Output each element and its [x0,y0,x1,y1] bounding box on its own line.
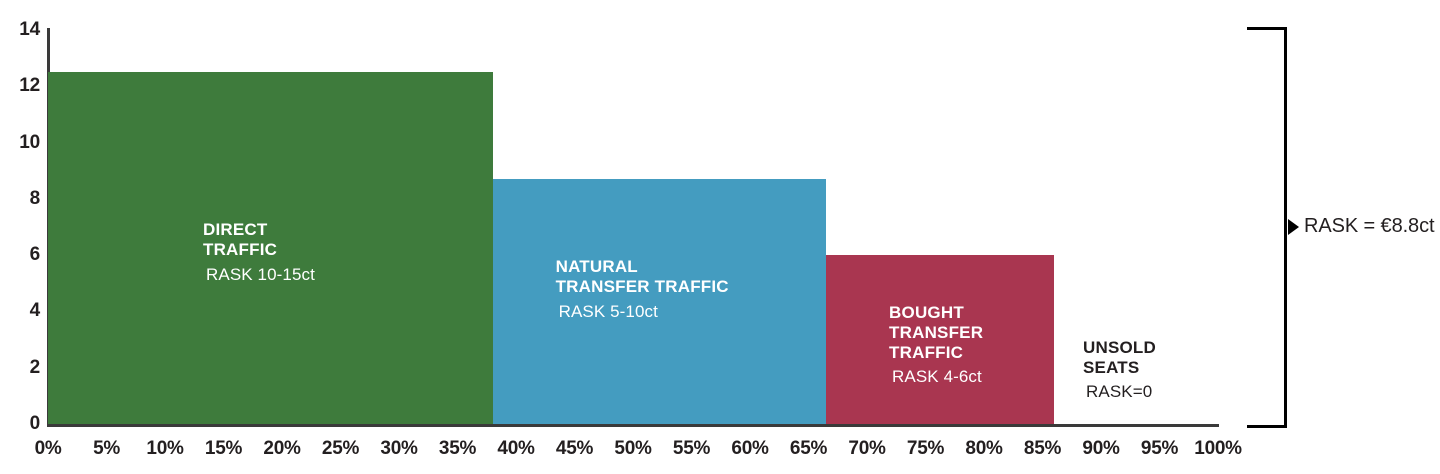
x-tick-35: 35% [439,438,476,460]
x-tick-65: 65% [790,438,827,460]
segment-title-2: BOUGHTTRANSFERTRAFFIC [889,303,983,362]
segment-label-1: NATURALTRANSFER TRAFFICRASK 5-10ct [556,257,729,321]
total-rask-label: RASK = €8.8ct [1304,215,1434,238]
x-tick-80: 80% [965,438,1002,460]
segment-title-line: DIRECT [203,220,315,240]
segment-title-1: NATURALTRANSFER TRAFFIC [556,257,729,296]
segment-label-2: BOUGHTTRANSFERTRAFFICRASK 4-6ct [889,303,983,387]
bracket-top-arm [1247,27,1287,30]
y-tick-14: 14 [4,19,40,41]
x-tick-15: 15% [205,438,242,460]
x-tick-60: 60% [731,438,768,460]
segment-title-line: TRAFFIC [203,240,315,260]
x-tick-100: 100% [1194,438,1241,460]
segment-title-line: BOUGHT [889,303,983,323]
x-tick-90: 90% [1082,438,1119,460]
x-tick-75: 75% [907,438,944,460]
chart-canvas: 02468101214 0%5%10%15%20%25%30%35%40%45%… [0,0,1440,474]
segment-label-3: UNSOLDSEATSRASK=0 [1083,338,1156,402]
x-tick-70: 70% [848,438,885,460]
x-tick-10: 10% [146,438,183,460]
x-tick-85: 85% [1024,438,1061,460]
y-tick-12: 12 [4,75,40,97]
x-axis-line [47,424,1219,427]
segment-title-line: UNSOLD [1083,338,1156,358]
segment-rask-label-3: RASK=0 [1083,382,1156,402]
segment-title-line: TRANSFER [889,323,983,343]
y-tick-6: 6 [4,244,40,266]
y-tick-2: 2 [4,357,40,379]
x-tick-40: 40% [497,438,534,460]
y-tick-0: 0 [4,413,40,435]
y-tick-10: 10 [4,132,40,154]
x-tick-45: 45% [556,438,593,460]
x-tick-25: 25% [322,438,359,460]
x-tick-20: 20% [263,438,300,460]
segment-title-line: TRANSFER TRAFFIC [556,277,729,297]
segment-title-3: UNSOLDSEATS [1083,338,1156,377]
total-bracket [1247,27,1287,428]
segment-title-line: TRAFFIC [889,343,983,363]
segment-title-line: SEATS [1083,358,1156,378]
bracket-arrow-icon [1288,219,1299,235]
x-tick-30: 30% [380,438,417,460]
x-tick-5: 5% [93,438,120,460]
x-tick-55: 55% [673,438,710,460]
segment-title-0: DIRECTTRAFFIC [203,220,315,259]
bracket-spine [1284,27,1287,428]
segment-title-line: NATURAL [556,257,729,277]
bracket-bottom-arm [1247,425,1287,428]
y-tick-4: 4 [4,300,40,322]
x-tick-95: 95% [1141,438,1178,460]
segment-rask-label-2: RASK 4-6ct [889,367,983,387]
x-tick-50: 50% [614,438,651,460]
segment-rask-label-1: RASK 5-10ct [556,302,729,322]
segment-label-0: DIRECTTRAFFICRASK 10-15ct [203,220,315,284]
segment-rask-label-0: RASK 10-15ct [203,265,315,285]
y-tick-8: 8 [4,188,40,210]
x-tick-0: 0% [35,438,62,460]
